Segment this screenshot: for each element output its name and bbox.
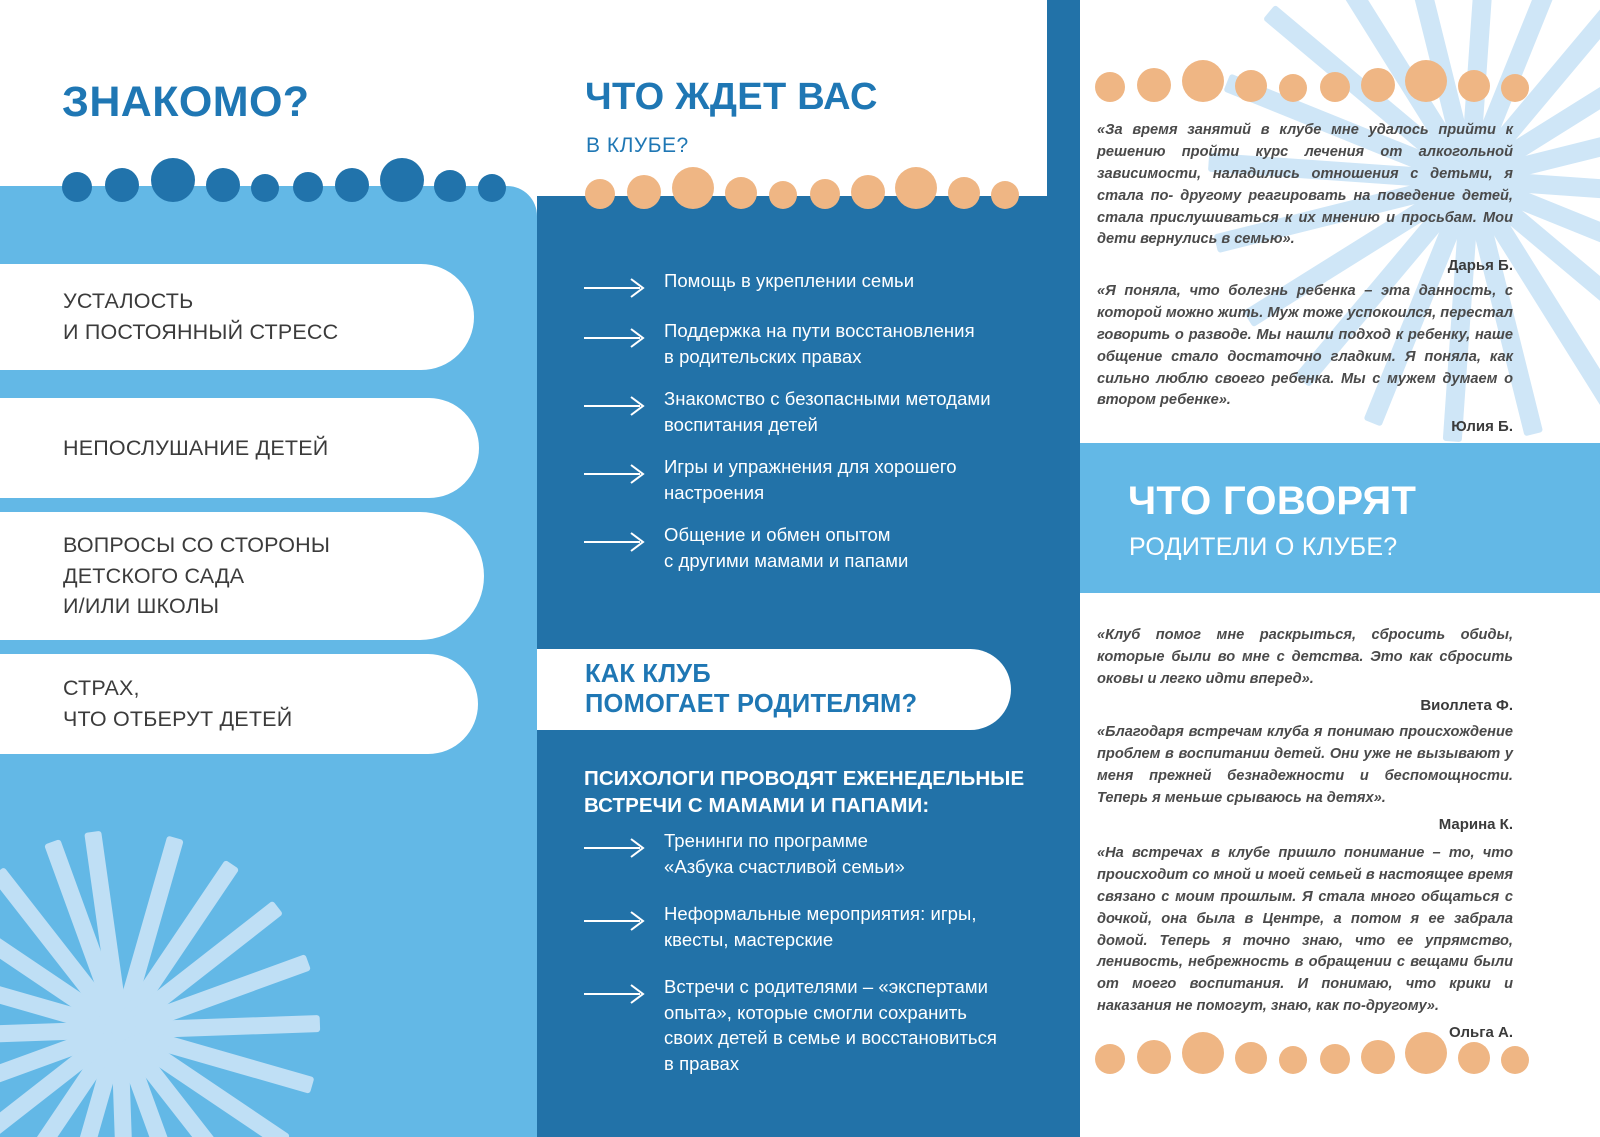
problem-card-label: НЕПОСЛУШАНИЕ ДЕТЕЙ: [0, 433, 388, 464]
testimonial-quote: «Благодаря встречам клуба я понимаю прои…: [1097, 722, 1513, 810]
decorative-dot: [1458, 70, 1490, 102]
decorative-dot: [1405, 60, 1447, 102]
testimonial: «Клуб помог мне раскрыться, сбросить оби…: [1097, 625, 1513, 714]
problem-card: НЕПОСЛУШАНИЕ ДЕТЕЙ: [0, 398, 479, 498]
testimonial-author: Виоллета Ф.: [1097, 697, 1513, 714]
testimonial-quote: «За время занятий в клубе мне удалось пр…: [1097, 120, 1513, 251]
psychologists-intro-text: ПСИХОЛОГИ ПРОВОДЯТ ЕЖЕНЕДЕЛЬНЫЕ ВСТРЕЧИ …: [584, 766, 1034, 819]
arrow-right-icon: [584, 275, 647, 301]
testimonial-author: Дарья Б.: [1097, 257, 1513, 274]
testimonials-banner: ЧТО ГОВОРЯТ РОДИТЕЛИ О КЛУБЕ?: [1080, 443, 1600, 593]
activities-list: Тренинги по программе «Азбука счастливой…: [584, 828, 1034, 1098]
list-item-label: Поддержка на пути восстановления в родит…: [664, 318, 975, 369]
arrow-right-icon: [584, 325, 647, 351]
banner-subtitle: РОДИТЕЛИ О КЛУБЕ?: [1129, 533, 1398, 562]
decorative-dot: [895, 167, 937, 209]
arrow-right-icon: [584, 461, 647, 487]
decorative-dot: [1501, 1046, 1529, 1074]
decorative-dot: [1182, 60, 1224, 102]
list-item-label: Неформальные мероприятия: игры, квесты, …: [664, 901, 977, 952]
testimonial-author: Марина К.: [1097, 816, 1513, 833]
decorative-dot: [585, 179, 615, 209]
testimonial-quote: «На встречах в клубе пришло понимание – …: [1097, 843, 1513, 1018]
testimonial-quote: «Клуб помог мне раскрыться, сбросить оби…: [1097, 625, 1513, 691]
problem-card: ВОПРОСЫ СО СТОРОНЫ ДЕТСКОГО САДА И/ИЛИ Ш…: [0, 512, 484, 640]
help-card-title: КАК КЛУБ ПОМОГАЕТ РОДИТЕЛЯМ?: [537, 660, 917, 719]
testimonial-author: Ольга А.: [1097, 1024, 1513, 1041]
left-column: ЗНАКОМО? УСТАЛОСТЬ И ПОСТОЯННЫЙ СТРЕСС Н…: [0, 0, 537, 1137]
decorative-dot: [1361, 1040, 1395, 1074]
decorative-dot: [1320, 72, 1350, 102]
arrow-right-icon: [584, 529, 647, 555]
decorative-dot: [725, 177, 757, 209]
decorative-dot: [335, 168, 369, 202]
list-item: Общение и обмен опытом с другими мамами …: [584, 522, 1034, 573]
problem-card-label: ВОПРОСЫ СО СТОРОНЫ ДЕТСКОГО САДА И/ИЛИ Ш…: [0, 530, 390, 622]
list-item: Поддержка на пути восстановления в родит…: [584, 318, 1034, 369]
poster-root: ЗНАКОМО? УСТАЛОСТЬ И ПОСТОЯННЫЙ СТРЕСС Н…: [0, 0, 1600, 1137]
help-card: КАК КЛУБ ПОМОГАЕТ РОДИТЕЛЯМ?: [537, 649, 1011, 730]
decorative-dot: [1137, 68, 1171, 102]
decorative-dot: [1361, 68, 1395, 102]
right-column: «За время занятий в клубе мне удалось пр…: [1047, 0, 1600, 1137]
banner-title: ЧТО ГОВОРЯТ: [1128, 479, 1416, 524]
decorative-dot: [380, 158, 424, 202]
decorative-dot: [1501, 74, 1529, 102]
testimonial-author: Юлия Б.: [1097, 418, 1513, 435]
decorative-dot: [948, 177, 980, 209]
list-item-label: Игры и упражнения для хорошего настроени…: [664, 454, 957, 505]
list-item-label: Знакомство с безопасными методами воспит…: [664, 386, 991, 437]
dot-row-middle: [585, 175, 1005, 215]
testimonial: «За время занятий в клубе мне удалось пр…: [1097, 120, 1513, 274]
list-item-label: Помощь в укреплении семьи: [664, 268, 914, 294]
problem-card-label: УСТАЛОСТЬ И ПОСТОЯННЫЙ СТРЕСС: [0, 286, 398, 347]
page-title-znakomo: ЗНАКОМО?: [62, 78, 309, 127]
decorative-dot: [1279, 74, 1307, 102]
dot-row-right-top: [1095, 68, 1525, 108]
list-item: Помощь в укреплении семьи: [584, 268, 1034, 301]
decorative-dot: [991, 181, 1019, 209]
decorative-dot: [1235, 70, 1267, 102]
testimonial-quote: «Я поняла, что болезнь ребенка – эта дан…: [1097, 281, 1513, 412]
arrow-right-icon: [584, 981, 647, 1007]
page-title-chto-zhdet-vas: ЧТО ЖДЕТ ВАС: [585, 78, 878, 118]
decorative-dot: [293, 172, 323, 202]
dot-row-left: [62, 168, 512, 208]
decorative-dot: [434, 170, 466, 202]
problem-card: СТРАХ, ЧТО ОТБЕРУТ ДЕТЕЙ: [0, 654, 478, 754]
arrow-right-icon: [584, 835, 647, 861]
decorative-dot: [1182, 1032, 1224, 1074]
decorative-dot: [1235, 1042, 1267, 1074]
list-item: Тренинги по программе «Азбука счастливой…: [584, 828, 1034, 879]
decorative-dot: [1279, 1046, 1307, 1074]
decorative-dot: [206, 168, 240, 202]
testimonial: «Я поняла, что болезнь ребенка – эта дан…: [1097, 281, 1513, 435]
decorative-dot: [1095, 72, 1125, 102]
list-item: Знакомство с безопасными методами воспит…: [584, 386, 1034, 437]
list-item: Игры и упражнения для хорошего настроени…: [584, 454, 1034, 505]
decorative-dot: [769, 181, 797, 209]
problem-card: УСТАЛОСТЬ И ПОСТОЯННЫЙ СТРЕСС: [0, 264, 474, 370]
decorative-dot: [627, 175, 661, 209]
decorative-dot: [251, 174, 279, 202]
list-item-label: Тренинги по программе «Азбука счастливой…: [664, 828, 905, 879]
decorative-dot: [1458, 1042, 1490, 1074]
decorative-dot: [1405, 1032, 1447, 1074]
decorative-dot: [478, 174, 506, 202]
decorative-dot: [1320, 1044, 1350, 1074]
benefits-list: Помощь в укреплении семьи Поддержка на п…: [584, 268, 1034, 590]
list-item: Неформальные мероприятия: игры, квесты, …: [584, 901, 1034, 952]
list-item-label: Встречи с родителями – «экспертами опыта…: [664, 974, 997, 1076]
decorative-dot: [672, 167, 714, 209]
list-item: Встречи с родителями – «экспертами опыта…: [584, 974, 1034, 1076]
arrow-right-icon: [584, 908, 647, 934]
problem-card-label: СТРАХ, ЧТО ОТБЕРУТ ДЕТЕЙ: [0, 673, 352, 734]
page-subtitle-v-klube: В КЛУБЕ?: [586, 134, 689, 158]
testimonial: «На встречах в клубе пришло понимание – …: [1097, 843, 1513, 1041]
decorative-dot: [1095, 1044, 1125, 1074]
right-edge-bar-top: [1047, 0, 1080, 443]
decorative-dot: [105, 168, 139, 202]
list-item-label: Общение и обмен опытом с другими мамами …: [664, 522, 908, 573]
decorative-dot: [1137, 1040, 1171, 1074]
arrow-right-icon: [584, 393, 647, 419]
decorative-dot: [151, 158, 195, 202]
decorative-dot: [851, 175, 885, 209]
decorative-dot: [810, 179, 840, 209]
dot-row-right-bottom: [1095, 1040, 1525, 1080]
middle-column: ЧТО ЖДЕТ ВАС В КЛУБЕ? Помощь в укреплени…: [537, 0, 1047, 1137]
testimonial: «Благодаря встречам клуба я понимаю прои…: [1097, 722, 1513, 833]
right-edge-bar-bottom: [1047, 443, 1080, 1137]
decorative-dot: [62, 172, 92, 202]
